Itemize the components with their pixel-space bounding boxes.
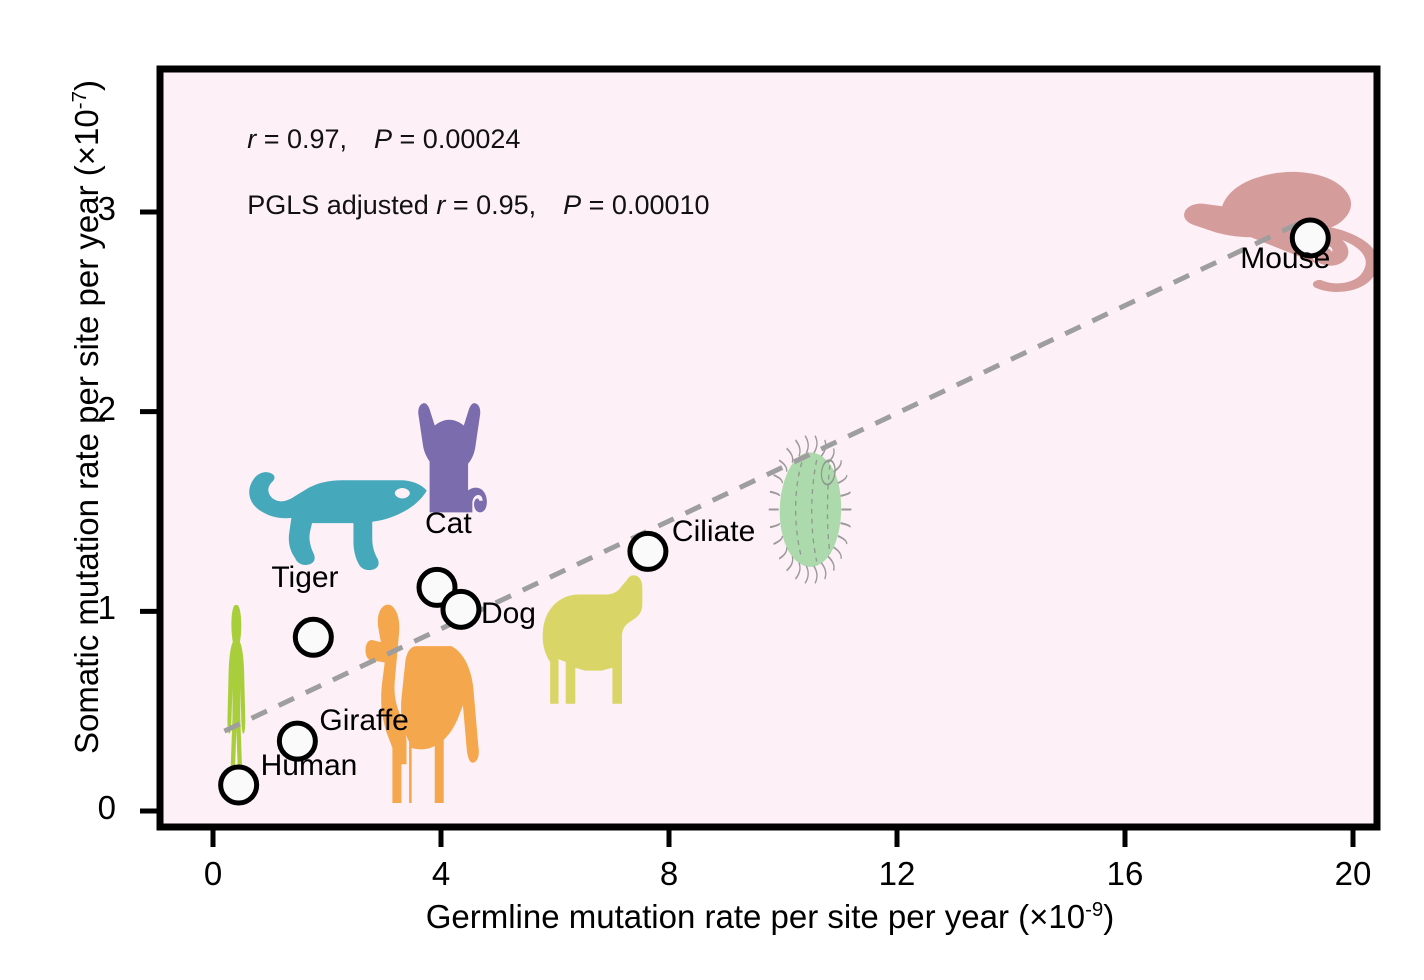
y-tick-label-1: 1 [70,589,116,627]
x-tick-label-4: 4 [411,855,471,893]
data-point-tiger[interactable] [295,619,331,655]
data-point-dog[interactable] [443,591,479,627]
y-tick-label-0: 0 [70,789,116,827]
point-label-tiger: Tiger [271,561,338,595]
point-label-cat: Cat [425,507,472,541]
data-point-human[interactable] [221,767,257,803]
data-point-ciliate[interactable] [630,533,666,569]
x-tick-label-16: 16 [1095,855,1155,893]
annotation-pgls: PGLS adjusted r = 0.95, P = 0.00010 [247,190,709,221]
x-tick-label-20: 20 [1323,855,1383,893]
scatter-plot-figure: Somatic mutation rate per site per year … [0,0,1424,980]
point-label-ciliate: Ciliate [672,515,755,549]
x-tick-label-0: 0 [183,855,243,893]
y-tick-label-3: 3 [70,190,116,228]
point-label-human: Human [261,749,358,783]
y-tick-label-2: 2 [70,390,116,428]
x-tick-label-8: 8 [639,855,699,893]
x-tick-label-12: 12 [867,855,927,893]
annotation-pearson: r = 0.97, P = 0.00024 [247,124,520,155]
point-label-dog: Dog [481,597,536,631]
point-label-giraffe: Giraffe [319,704,409,738]
point-label-mouse: Mouse [1240,242,1330,276]
plot-canvas [0,0,1424,980]
